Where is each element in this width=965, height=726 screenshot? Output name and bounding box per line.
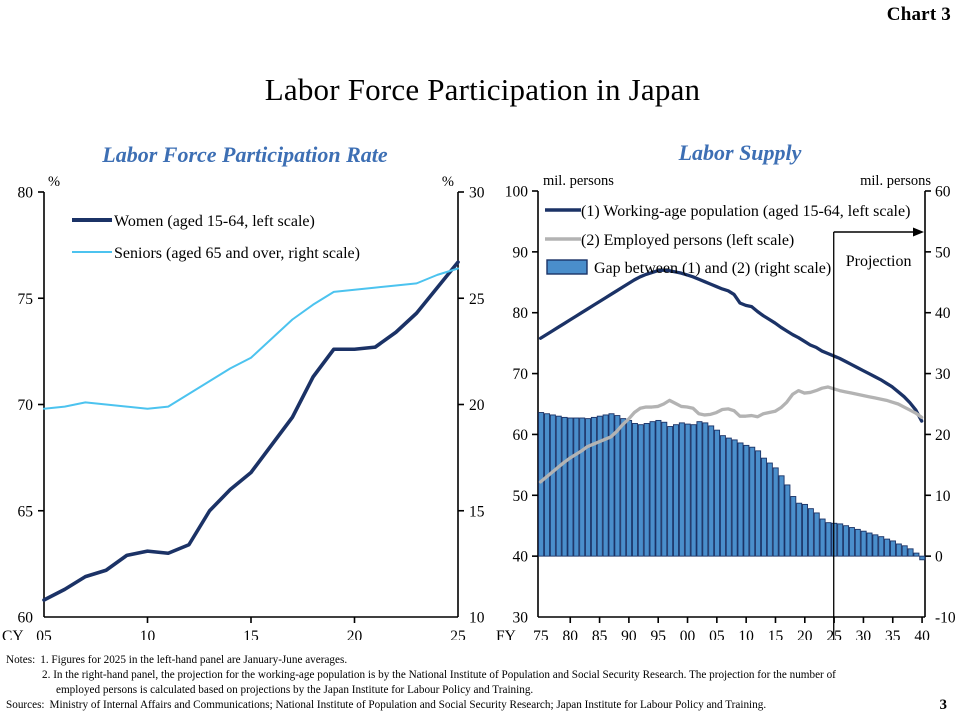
gap-bar (814, 513, 819, 556)
notes-label: Notes: (6, 653, 35, 668)
gap-bar (685, 424, 690, 556)
left-panel-x-prefix: CY (2, 628, 24, 640)
gap-bar (797, 503, 802, 556)
page-number: 3 (940, 697, 948, 714)
gap-bar (750, 447, 755, 556)
right-panel-y-tick-label-right: 30 (935, 366, 951, 383)
gap-bar (902, 546, 907, 556)
gap-bar (838, 524, 843, 556)
gap-bar (679, 423, 684, 556)
left-panel-y-tick-label: 80 (18, 185, 34, 202)
right-panel-x-prefix: FY (496, 628, 516, 640)
left-panel-x-tick-label: 15 (243, 628, 259, 640)
right-panel-chart: Projection 10090807060504030605040302010… (495, 170, 965, 640)
left-legend-label-1: Seniors (aged 65 and over, right scale) (114, 245, 360, 262)
right-panel-y-tick-label: 90 (513, 244, 529, 261)
gap-bar (638, 425, 643, 556)
right-panel-y-tick-label-right: -10 (935, 610, 956, 627)
projection-arrow-head (913, 228, 924, 237)
right-panel-y-tick-label: 100 (505, 184, 529, 201)
gap-bar (691, 425, 696, 556)
left-panel-line-seniors (44, 269, 458, 409)
right-legend-label-employed: (2) Employed persons (left scale) (581, 232, 794, 249)
right-panel-y-tick-label: 40 (513, 549, 529, 566)
left-legend-label-0: Women (aged 15-64, left scale) (114, 213, 315, 230)
left-panel-right-unit: % (442, 174, 454, 190)
right-panel-x-tick-label: 15 (768, 628, 784, 640)
right-panel-y-tick-label: 60 (513, 427, 529, 444)
gap-bar (673, 425, 678, 556)
gap-bar (826, 523, 831, 556)
right-panel-x-tick-label: 75 (533, 628, 549, 640)
sources-text: Ministry of Internal Affairs and Communi… (50, 698, 767, 713)
left-panel-y-tick-label: 70 (18, 397, 34, 414)
gap-bar (890, 541, 895, 556)
gap-bar (662, 422, 667, 556)
gap-bar (644, 423, 649, 556)
right-panel-title: Labor Supply (560, 140, 920, 166)
right-panel-x-tick-label: 30 (856, 628, 872, 640)
gap-bar (544, 414, 549, 556)
left-panel-x-tick-label: 05 (36, 628, 52, 640)
gap-bar (738, 443, 743, 556)
right-legend-label-gap: Gap between (1) and (2) (right scale) (594, 260, 831, 277)
left-panel-y-tick-label-right: 30 (469, 185, 485, 202)
gap-bar (720, 436, 725, 557)
gap-bar (820, 519, 825, 556)
gap-bar (767, 463, 772, 556)
right-panel-left-unit: mil. persons (543, 173, 614, 189)
right-panel-x-tick-label: 40 (914, 628, 930, 640)
right-panel-y-tick-label-right: 10 (935, 488, 951, 505)
gap-bar (715, 430, 720, 556)
gap-bar (808, 509, 813, 556)
sources-label: Sources: (6, 698, 45, 713)
left-panel-x-tick-label: 25 (450, 628, 466, 640)
gap-bar (627, 420, 632, 556)
gap-bar (908, 549, 913, 556)
left-panel-y-tick-label: 75 (18, 291, 34, 308)
left-panel-y-tick-label-right: 10 (469, 610, 485, 627)
gap-bar (785, 485, 790, 556)
right-panel-x-tick-label: 20 (797, 628, 813, 640)
gap-bar (914, 553, 919, 556)
gap-bar (726, 438, 731, 556)
gap-bar (580, 418, 585, 556)
gap-bar (668, 427, 673, 557)
gap-bar (885, 539, 890, 556)
left-panel-y-tick-label-right: 20 (469, 397, 485, 414)
chart-number: Chart 3 (887, 4, 951, 26)
gap-bar (896, 544, 901, 556)
gap-bar (632, 423, 637, 556)
right-panel-y-tick-label-right: 40 (935, 305, 951, 322)
gap-bar (844, 526, 849, 556)
gap-bar (879, 537, 884, 556)
right-panel-x-tick-label: 25 (826, 628, 842, 640)
gap-bar (703, 423, 708, 556)
right-panel-x-tick-label: 00 (680, 628, 696, 640)
gap-bar (615, 416, 620, 557)
right-panel-line-working-age-population (541, 270, 922, 421)
gap-bar (574, 418, 579, 556)
left-panel-chart: 80757065603025201510%%0510152025CY Women… (0, 170, 500, 640)
gap-bar (586, 419, 591, 557)
left-panel-legend: Women (aged 15-64, left scale)Seniors (a… (72, 213, 360, 262)
gap-bar (556, 416, 561, 556)
right-legend-swatch-gap (547, 260, 587, 274)
gap-bar (779, 476, 784, 556)
gap-bar (550, 415, 555, 556)
left-panel-y-tick-label-right: 25 (469, 291, 485, 308)
gap-bar (621, 419, 626, 557)
left-panel-x-tick-label: 10 (140, 628, 156, 640)
right-panel-bars (539, 413, 925, 560)
gap-bar (568, 418, 573, 556)
right-panel-x-tick-label: 90 (621, 628, 637, 640)
right-panel-y-tick-label: 80 (513, 305, 529, 322)
left-panel-left-unit: % (48, 174, 60, 190)
gap-bar (562, 417, 567, 556)
left-panel-y-tick-label: 65 (18, 503, 34, 520)
right-panel-y-tick-label-right: 20 (935, 427, 951, 444)
gap-bar (603, 415, 608, 556)
left-panel-y-tick-label-right: 15 (469, 503, 485, 520)
gap-bar (761, 458, 766, 556)
projection-label: Projection (846, 253, 912, 270)
left-panel-y-tick-label: 60 (18, 610, 34, 627)
left-panel-title: Labor Force Participation Rate (30, 142, 460, 168)
gap-bar (855, 529, 860, 556)
gap-bar (591, 417, 596, 556)
gap-bar (867, 533, 872, 556)
right-panel-y-tick-label-right: 50 (935, 244, 951, 261)
gap-bar (873, 535, 878, 556)
note-item-1: 1. Figures for 2025 in the left-hand pan… (40, 653, 347, 668)
right-panel-y-tick-label-right: 60 (935, 184, 951, 201)
right-panel-y-tick-label: 30 (513, 610, 529, 627)
gap-bar (744, 445, 749, 556)
page-title: Labor Force Participation in Japan (0, 72, 965, 108)
right-panel-x-tick-label: 85 (592, 628, 608, 640)
right-panel-y-tick-label-right: 0 (935, 549, 943, 566)
note-item-2-cont: employed persons is calculated based on … (56, 684, 533, 696)
gap-bar (709, 426, 714, 556)
note-item-2: 2. In the right-hand panel, the projecti… (42, 669, 836, 681)
gap-bar (849, 528, 854, 557)
right-panel-x-tick-label: 95 (650, 628, 666, 640)
right-legend-label-working-age: (1) Working-age population (aged 15-64, … (581, 203, 910, 220)
footnotes: Notes: 1. Figures for 2025 in the left-h… (6, 653, 956, 713)
left-panel-series (44, 262, 458, 600)
right-panel-x-tick-label: 05 (709, 628, 725, 640)
gap-bar (920, 556, 925, 560)
left-panel-axis-labels: 80757065603025201510%%0510152025CY (2, 174, 485, 640)
gap-bar (656, 420, 661, 556)
right-panel-x-tick-label: 80 (563, 628, 579, 640)
gap-bar (861, 531, 866, 556)
gap-bar (756, 451, 761, 556)
gap-bar (791, 497, 796, 557)
right-panel-projection-marker: Projection (834, 228, 924, 641)
right-panel-x-tick-label: 10 (738, 628, 754, 640)
gap-bar (697, 422, 702, 556)
left-panel-x-tick-label: 20 (347, 628, 363, 640)
right-panel-right-unit: mil. persons (860, 173, 931, 189)
right-panel-y-tick-label: 50 (513, 488, 529, 505)
gap-bar (773, 468, 778, 556)
right-panel-x-tick-label: 35 (885, 628, 901, 640)
gap-bar (732, 440, 737, 556)
gap-bar (650, 422, 655, 556)
left-panel-line-women (44, 262, 458, 600)
gap-bar (539, 413, 544, 557)
gap-bar (597, 416, 602, 556)
right-panel-y-tick-label: 70 (513, 366, 529, 383)
gap-bar (802, 504, 807, 556)
